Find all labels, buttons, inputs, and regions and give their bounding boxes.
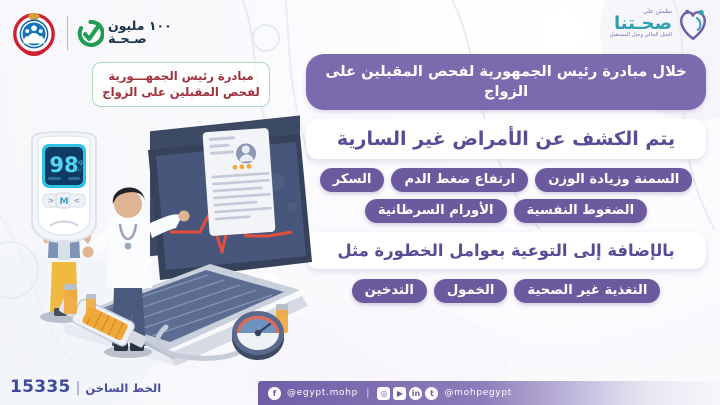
disease-section-heading: يتم الكشف عن الأمراض غير السارية (306, 119, 706, 159)
pill-item[interactable]: الخمول (434, 279, 508, 303)
logo-row: ١٠٠ مليون صـحـة (10, 9, 172, 57)
svg-text:<: < (48, 196, 55, 205)
hundred-million-line1: ١٠٠ مليون (108, 20, 172, 33)
disease-pill-row-2: الضغوط النفسية الأورام السرطانية (306, 199, 706, 223)
hundred-million-health-logo: ١٠٠ مليون صـحـة (77, 20, 172, 47)
svg-text:>: > (74, 196, 81, 205)
medical-report-card (202, 128, 275, 236)
sehetna-sub-text: الجيل الحالي وجيل المستقبل (610, 33, 672, 38)
infographic-canvas: ١٠٠ مليون صـحـة مبادرة رئيس الجمهـــورية… (0, 0, 720, 405)
logo-divider (67, 16, 68, 50)
initiative-line1: مبادرة رئيس الجمهـــورية (108, 69, 253, 84)
content-column: خلال مبادرة رئيس الجمهورية لفحص المقبلين… (306, 54, 706, 303)
other-social-handle[interactable]: @mohpegypt (444, 388, 512, 398)
hundred-million-line2: صـحـة (108, 33, 147, 46)
facebook-icon[interactable]: f (268, 387, 281, 400)
hotline-label: الخط الساخن (85, 381, 161, 395)
pill-item[interactable]: السكر (320, 168, 385, 192)
glucometer-icon: 98 mg /dL < M > (18, 130, 110, 270)
header-banner: خلال مبادرة رئيس الجمهورية لفحص المقبلين… (306, 54, 706, 110)
hotline-block: 15335 | الخط الساخن (10, 377, 161, 397)
linkedin-icon[interactable]: in (409, 387, 422, 400)
hotline-number: 15335 (10, 377, 71, 397)
pill-item[interactable]: الأورام السرطانية (365, 199, 507, 223)
svg-text:/dL: /dL (74, 167, 82, 173)
initiative-title-box: مبادرة رئيس الجمهـــورية لفحص المقبلين ع… (92, 62, 270, 107)
glucometer-buttons: < M > (43, 193, 85, 208)
sehetna-main-text: صحـتنا (614, 15, 672, 33)
glucometer-unit: mg (73, 159, 83, 166)
heart-stethoscope-icon (676, 6, 710, 42)
pill-item[interactable]: الضغوط النفسية (514, 199, 648, 223)
risk-section-heading: بالإضافة إلى التوعية بعوامل الخطورة مثل (306, 232, 706, 269)
egypt-ministry-of-health-seal-icon (10, 9, 58, 57)
pill-item[interactable]: التدخين (352, 279, 427, 303)
youtube-icon[interactable]: ▶ (393, 387, 406, 400)
svg-text:M: M (60, 197, 69, 207)
pill-item[interactable]: التغذية غير الصحية (514, 279, 660, 303)
risk-pill-row-1: التغذية غير الصحية الخمول التدخين (306, 279, 706, 303)
social-divider: | (366, 388, 369, 399)
twitter-icon[interactable]: t (425, 387, 438, 400)
initiative-line2: لفحص المقبلين على الزواج (102, 85, 260, 100)
pill-item[interactable]: السمنة وزيادة الوزن (535, 168, 692, 192)
disease-pill-row-1: السمنة وزيادة الوزن ارتفاع ضغط الدم السك… (306, 168, 706, 192)
facebook-handle[interactable]: @egypt.mohp (287, 388, 358, 398)
sehetna-brand-logo: نطمئن على صحـتنا الجيل الحالي وجيل المست… (610, 6, 710, 42)
pill-item[interactable]: ارتفاع ضغط الدم (391, 168, 528, 192)
green-check-circle-icon (77, 20, 104, 47)
social-media-bar: f @egypt.mohp | ◎ ▶ in t @mohpegypt (258, 381, 720, 405)
instagram-icon[interactable]: ◎ (377, 387, 390, 400)
hotline-separator: | (76, 380, 81, 396)
